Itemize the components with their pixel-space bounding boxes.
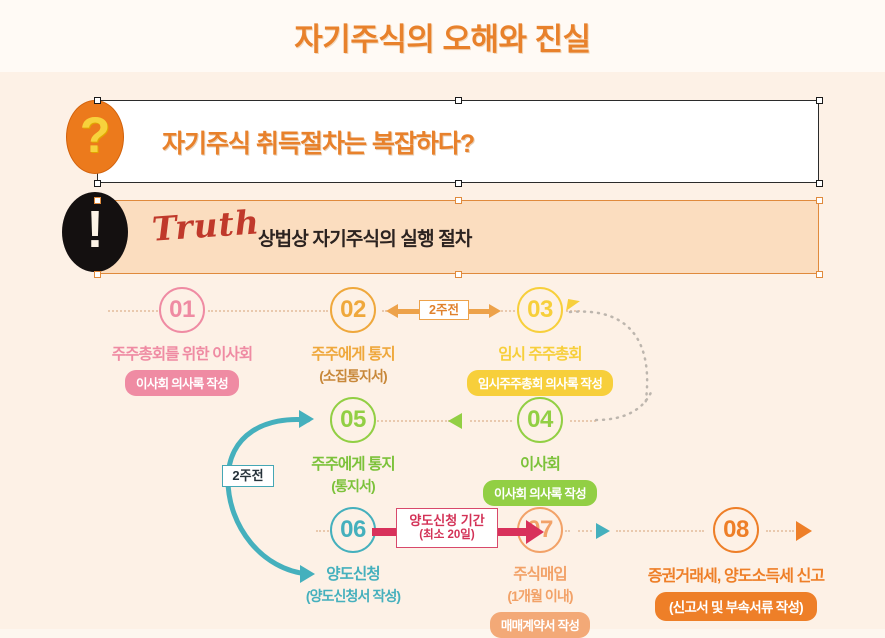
step-title-01: 주주총회를 위한 이사회 (82, 342, 282, 364)
step-title-03: 임시 주주총회 (440, 342, 640, 364)
flow-step-01[interactable]: 01 주주총회를 위한 이사회 이사회 의사록 작성 (82, 287, 282, 396)
step-number-05: 05 (340, 408, 366, 432)
arrow-head-left-top (386, 304, 398, 318)
step-circle-02: 02 (330, 287, 376, 333)
selection-handle-q-tc[interactable] (455, 97, 462, 104)
selection-handle-q-tl[interactable] (94, 97, 101, 104)
step-number-02: 02 (340, 298, 366, 322)
arrow-head-04-to-05 (448, 413, 462, 429)
page-title: 자기주식의 오해와 진실 (294, 14, 590, 59)
period-label-transfer-line1: 양도신청 기간 (409, 514, 484, 529)
flow-step-04[interactable]: 04 이사회 이사회 의사록 작성 (440, 397, 640, 506)
step-badge-01: 이사회 의사록 작성 (125, 370, 239, 396)
exclamation-mark-glyph: ! (86, 204, 103, 256)
arrow-head-end (796, 521, 812, 541)
step-title-05: 주주에게 통지 (253, 452, 453, 474)
step-number-06: 06 (340, 518, 366, 542)
step-circle-08: 08 (713, 507, 759, 553)
arrow-head-07-08 (596, 523, 610, 539)
step-sub-07: (1개월 이내) (440, 586, 640, 606)
step-circle-06: 06 (330, 507, 376, 553)
step-number-04: 04 (527, 408, 553, 432)
question-mark-icon: ? (66, 100, 124, 174)
arrow-shaft-06-07b (498, 528, 528, 536)
flow-step-05[interactable]: 05 주주에게 통지 (통지서) (253, 397, 453, 496)
step-circle-05: 05 (330, 397, 376, 443)
exclamation-mark-icon: ! (62, 192, 128, 272)
question-box[interactable]: 자기주식 취득절차는 복잡하다? (97, 100, 819, 183)
selection-handle-q-bl[interactable] (94, 180, 101, 187)
question-mark-glyph: ? (80, 110, 111, 160)
flow-step-03[interactable]: 03 임시 주주총회 임시주주총회 의사록 작성 (440, 287, 640, 396)
period-label-top-line1: 2주전 (429, 303, 459, 317)
step-badge-04: 이사회 의사록 작성 (483, 480, 597, 506)
step-circle-03: 03 (517, 287, 563, 333)
step-number-01: 01 (169, 298, 195, 322)
selection-handle-q-br[interactable] (816, 180, 823, 187)
truth-label: Truth (151, 202, 261, 248)
step-title-04: 이사회 (440, 452, 640, 474)
step-badge-07: 매매계약서 작성 (490, 612, 590, 638)
period-label-transfer-line2: (최소 20일) (419, 529, 474, 542)
arrow-head-to-06 (300, 565, 315, 583)
step-sub-02: (소집통지서) (253, 366, 453, 386)
infographic-canvas: 자기주식 취득절차는 복잡하다? ? ! Truth 상법상 자기주식의 실행 … (0, 72, 885, 629)
selection-handle-t-bl[interactable] (94, 271, 101, 278)
arrow-shaft-right-top (469, 309, 491, 314)
step-title-07: 주식매입 (440, 562, 640, 584)
step-badge-03: 임시주주총회 의사록 작성 (467, 370, 613, 396)
step-number-08: 08 (723, 518, 749, 542)
step-number-03: 03 (527, 298, 553, 322)
selection-handle-t-tr[interactable] (816, 197, 823, 204)
arrow-shaft-06-07a (372, 528, 396, 536)
step-sub-06: (양도신청서 작성) (253, 586, 453, 606)
period-label-left: 2주전 (222, 465, 274, 487)
arrow-shaft-left-top (397, 309, 421, 314)
step-title-08: 증권거래세, 양도소득세 신고 (636, 562, 836, 586)
page-header: 자기주식의 오해와 진실 (0, 0, 885, 72)
step-circle-01: 01 (159, 287, 205, 333)
arrow-head-right-top (489, 304, 501, 318)
period-label-transfer: 양도신청 기간 (최소 20일) (396, 508, 498, 548)
step-title-06: 양도신청 (253, 562, 453, 584)
arrow-head-03-down (566, 299, 580, 313)
step-title-02: 주주에게 통지 (253, 342, 453, 364)
period-label-left-line1: 2주전 (232, 469, 263, 484)
question-text: 자기주식 취득절차는 복잡하다? (162, 124, 474, 160)
selection-handle-q-bc[interactable] (455, 180, 462, 187)
period-label-top: 2주전 (419, 300, 469, 320)
selection-handle-t-br[interactable] (816, 271, 823, 278)
step-badge-08: (신고서 및 부속서류 작성) (655, 592, 817, 621)
selection-handle-q-tr[interactable] (816, 97, 823, 104)
step-sub-05: (통지서) (253, 476, 453, 496)
selection-handle-t-bc[interactable] (455, 271, 462, 278)
arrow-head-06-07 (526, 520, 544, 544)
truth-text: 상법상 자기주식의 실행 절차 (258, 224, 472, 251)
step-circle-04: 04 (517, 397, 563, 443)
selection-handle-t-tl[interactable] (94, 197, 101, 204)
selection-handle-t-tc[interactable] (455, 197, 462, 204)
arrow-head-to-05 (299, 410, 314, 428)
